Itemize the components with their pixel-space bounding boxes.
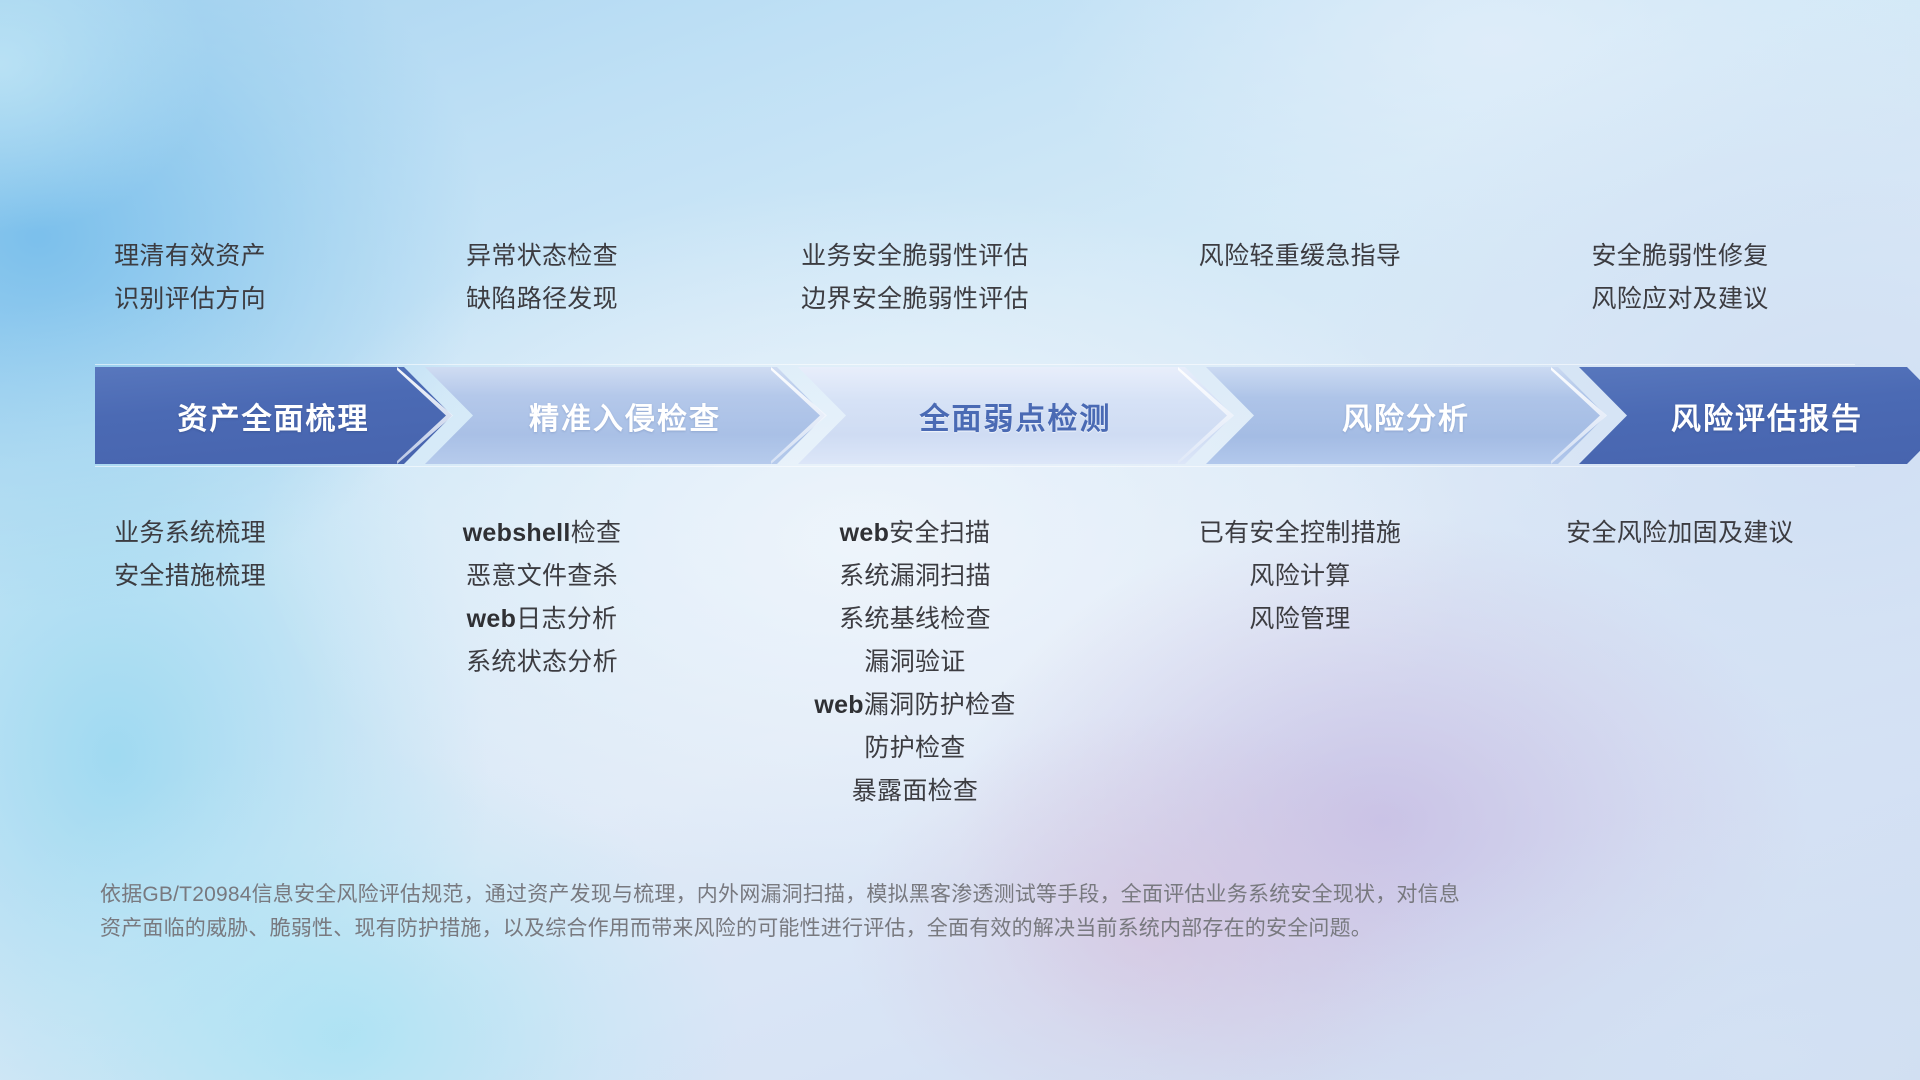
footer-line: 资产面临的威胁、脆弱性、现有防护措施，以及综合作用而带来风险的可能性进行评估，全… — [100, 912, 1620, 946]
stage-5-top-item: 风险应对及建议 — [1460, 278, 1900, 321]
stage-chevron-3[interactable]: 全面弱点检测 — [798, 367, 1233, 464]
stage-2-bottom-item: webshell检查 — [352, 512, 732, 555]
stage-2-bottom-item: web日志分析 — [352, 598, 732, 641]
process-diagram: 理清有效资产 识别评估方向 异常状态检查 缺陷路径发现 业务安全脆弱性评估 边界… — [0, 0, 1920, 1080]
stage-3-bottom-items: web安全扫描 系统漏洞扫描 系统基线检查 漏洞验证 web漏洞防护检查 防护检… — [705, 512, 1125, 813]
stage-chevron-4-label: 风险分析 — [1342, 394, 1470, 438]
stage-1-top-item: 理清有效资产 — [0, 235, 380, 278]
band-bottom-hairline — [95, 466, 1855, 467]
stage-3-bottom-item: 防护检查 — [705, 727, 1125, 770]
stage-5-top-item: 安全脆弱性修复 — [1460, 235, 1900, 278]
stage-2-top-item: 缺陷路径发现 — [352, 278, 732, 321]
stage-chevron-4[interactable]: 风险分析 — [1206, 367, 1606, 464]
stage-1-bottom-items: 业务系统梳理 安全措施梳理 — [0, 512, 380, 598]
band-top-hairline — [95, 364, 1855, 365]
stage-1-bottom-item: 安全措施梳理 — [0, 555, 380, 598]
stage-2-bottom-items: webshell检查 恶意文件查杀 web日志分析 系统状态分析 — [352, 512, 732, 684]
stage-4-bottom-item: 风险管理 — [1090, 598, 1510, 641]
stage-chevron-3-label: 全面弱点检测 — [920, 394, 1112, 438]
stage-5-top-items: 安全脆弱性修复 风险应对及建议 — [1460, 235, 1900, 321]
stage-3-bottom-item: 漏洞验证 — [705, 641, 1125, 684]
stage-3-bottom-item: web安全扫描 — [705, 512, 1125, 555]
stage-chevron-2[interactable]: 精准入侵检查 — [425, 367, 825, 464]
stage-3-top-item: 边界安全脆弱性评估 — [705, 278, 1125, 321]
stage-4-bottom-items: 已有安全控制措施 风险计算 风险管理 — [1090, 512, 1510, 641]
stage-4-bottom-item: 已有安全控制措施 — [1090, 512, 1510, 555]
stage-3-top-items: 业务安全脆弱性评估 边界安全脆弱性评估 — [705, 235, 1125, 321]
stage-chevron-2-label: 精准入侵检查 — [529, 394, 721, 438]
stage-3-top-item: 业务安全脆弱性评估 — [705, 235, 1125, 278]
stage-3-bottom-item: 系统基线检查 — [705, 598, 1125, 641]
stage-2-top-item: 异常状态检查 — [352, 235, 732, 278]
footer-line: 依据GB/T20984信息安全风险评估规范，通过资产发现与梳理，内外网漏洞扫描，… — [100, 878, 1620, 912]
stage-1-bottom-item: 业务系统梳理 — [0, 512, 380, 555]
stage-chevron-5[interactable]: 风险评估报告 — [1579, 367, 1920, 464]
stage-1-top-item: 识别评估方向 — [0, 278, 380, 321]
stage-3-bottom-item: web漏洞防护检查 — [705, 684, 1125, 727]
stage-3-bottom-item: 系统漏洞扫描 — [705, 555, 1125, 598]
stage-2-bottom-item: 系统状态分析 — [352, 641, 732, 684]
stage-3-bottom-item: 暴露面检查 — [705, 770, 1125, 813]
stage-4-top-items: 风险轻重缓急指导 — [1090, 235, 1510, 278]
stage-chevron-band: 资产全面梳理 精准入侵检查 全面弱点检测 风险分析 风险评估报告 — [95, 367, 1855, 464]
stage-2-bottom-item: 恶意文件查杀 — [352, 555, 732, 598]
footer-description: 依据GB/T20984信息安全风险评估规范，通过资产发现与梳理，内外网漏洞扫描，… — [100, 878, 1620, 946]
stage-2-top-items: 异常状态检查 缺陷路径发现 — [352, 235, 732, 321]
stage-chevron-5-label: 风险评估报告 — [1671, 394, 1863, 438]
stage-5-bottom-items: 安全风险加固及建议 — [1460, 512, 1900, 555]
stage-5-bottom-item: 安全风险加固及建议 — [1460, 512, 1900, 555]
stage-chevron-1-label: 资产全面梳理 — [178, 394, 370, 438]
stage-4-top-item: 风险轻重缓急指导 — [1090, 235, 1510, 278]
stage-chevron-1[interactable]: 资产全面梳理 — [95, 367, 452, 464]
stage-4-bottom-item: 风险计算 — [1090, 555, 1510, 598]
stage-1-top-items: 理清有效资产 识别评估方向 — [0, 235, 380, 321]
